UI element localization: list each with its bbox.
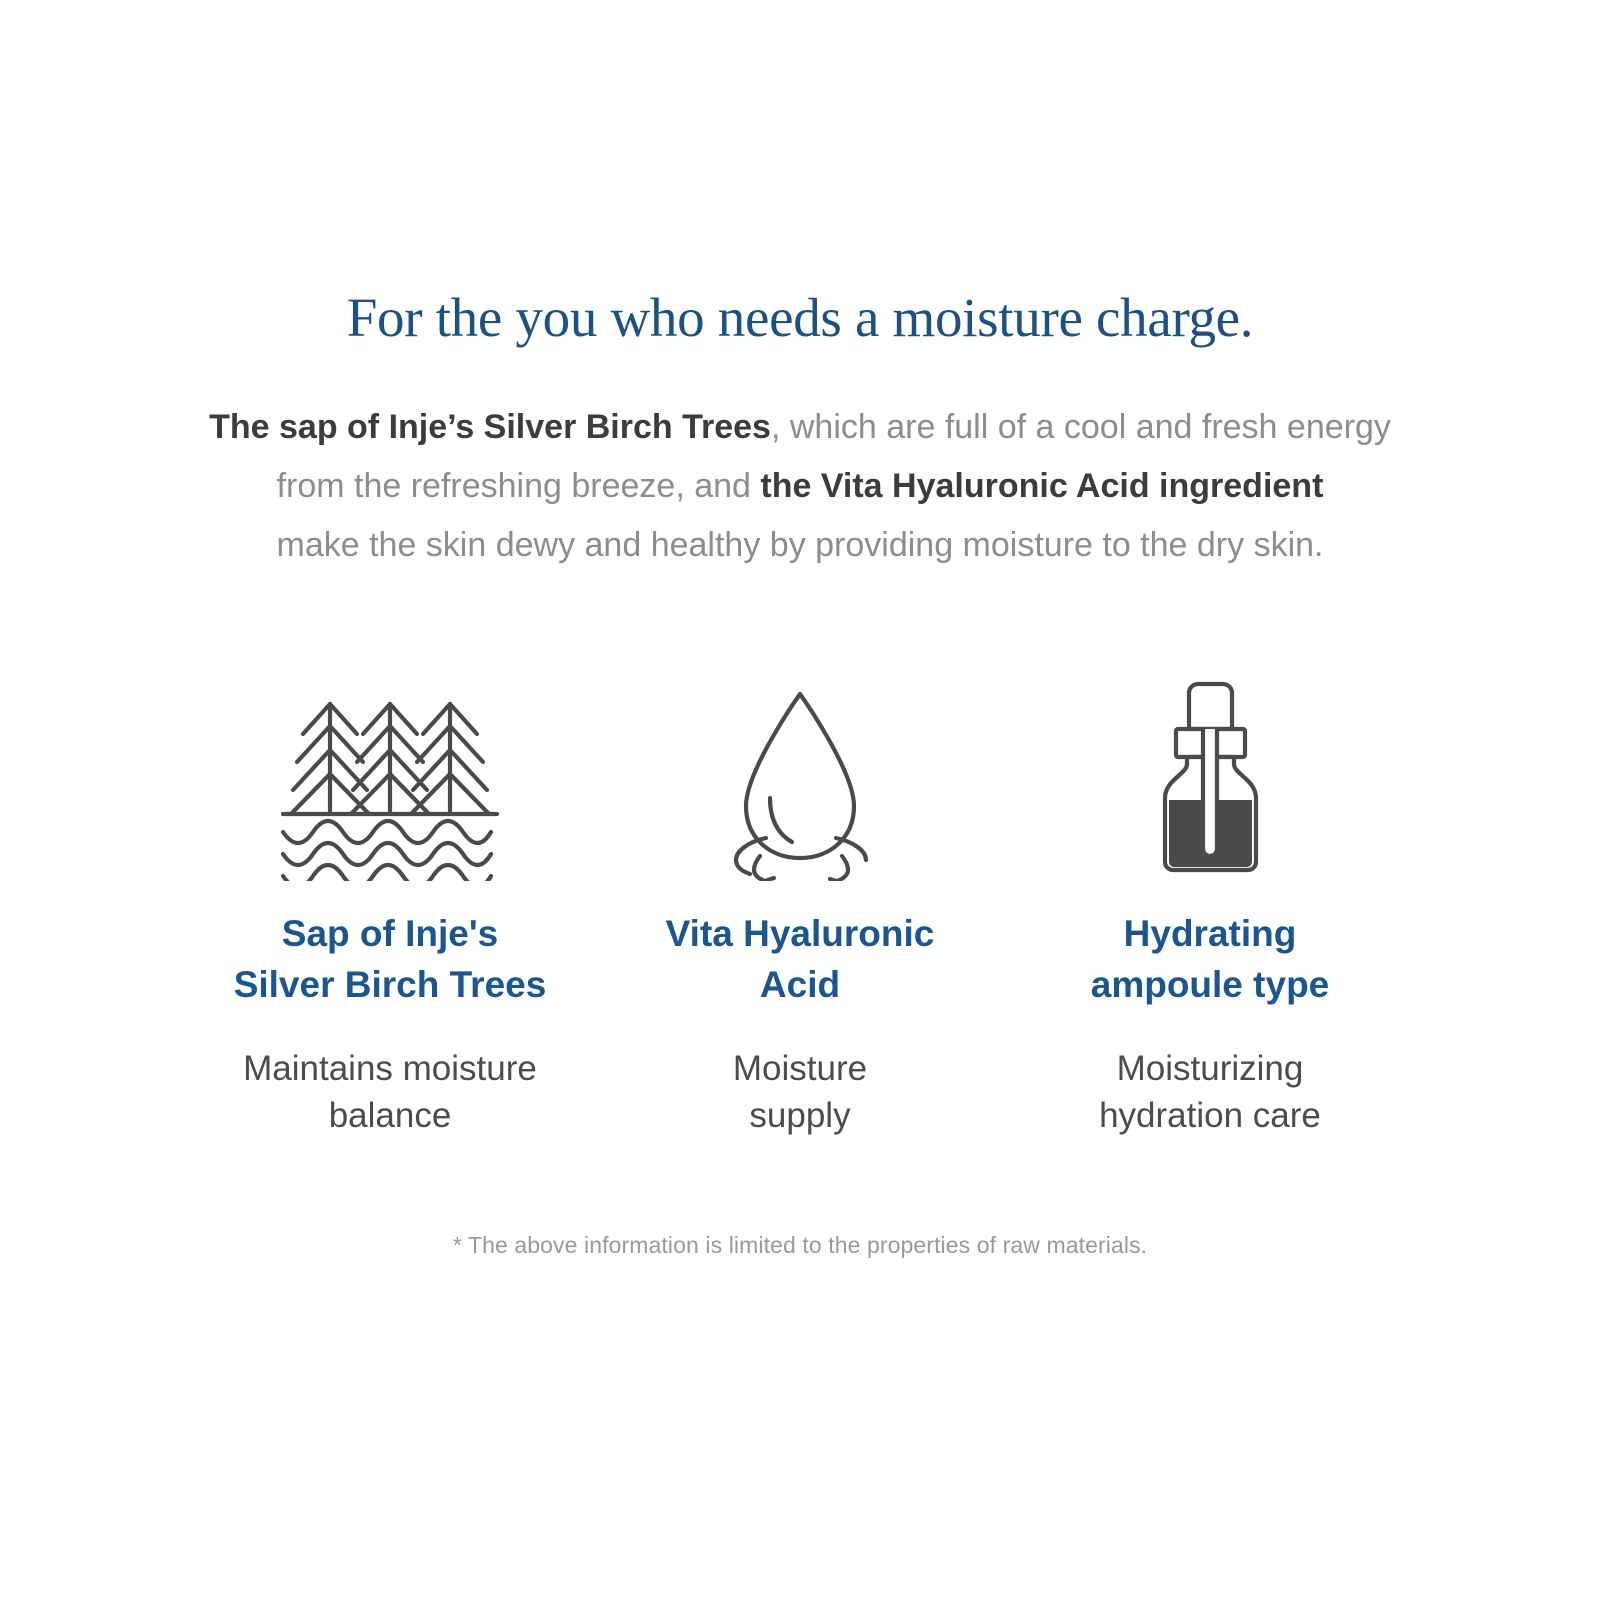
feature-list: Sap of Inje's Silver Birch Trees Maintai… bbox=[0, 676, 1600, 1139]
feature-item-vita-hyaluronic-acid: Vita Hyaluronic Acid Moisture supply bbox=[595, 676, 1005, 1139]
intro-line-1-rest: , which are full of a cool and fresh ene… bbox=[771, 408, 1391, 446]
feature-description: Moisturizing hydration care bbox=[1099, 1045, 1321, 1139]
feature-title: Sap of Inje's Silver Birch Trees bbox=[234, 908, 547, 1010]
intro-line-2-strong: the Vita Hyaluronic Acid ingredient bbox=[760, 467, 1323, 505]
forest-water-icon bbox=[275, 676, 505, 881]
water-drop-ripple-icon bbox=[708, 676, 893, 881]
feature-description: Maintains moisture balance bbox=[243, 1045, 537, 1139]
page-headline: For the you who needs a moisture charge. bbox=[0, 288, 1600, 349]
feature-title: Hydrating ampoule type bbox=[1091, 908, 1330, 1010]
intro-line-2-rest: from the refreshing breeze, and bbox=[277, 467, 761, 505]
feature-item-sap-of-inje: Sap of Inje's Silver Birch Trees Maintai… bbox=[185, 676, 595, 1139]
intro-line-3: make the skin dewy and healthy by provid… bbox=[0, 516, 1600, 575]
intro-line-2: from the refreshing breeze, and the Vita… bbox=[0, 457, 1600, 516]
feature-item-hydrating-ampoule: Hydrating ampoule type Moisturizing hydr… bbox=[1005, 676, 1415, 1139]
feature-title: Vita Hyaluronic Acid bbox=[666, 908, 935, 1010]
feature-description: Moisture supply bbox=[733, 1045, 867, 1139]
product-info-page: For the you who needs a moisture charge.… bbox=[0, 0, 1600, 1600]
intro-paragraph: The sap of Inje’s Silver Birch Trees, wh… bbox=[0, 398, 1600, 575]
footnote-text: * The above information is limited to th… bbox=[0, 1232, 1600, 1259]
intro-line-1: The sap of Inje’s Silver Birch Trees, wh… bbox=[0, 398, 1600, 457]
intro-line-1-strong: The sap of Inje’s Silver Birch Trees bbox=[209, 408, 771, 446]
dropper-bottle-icon bbox=[1143, 676, 1278, 881]
